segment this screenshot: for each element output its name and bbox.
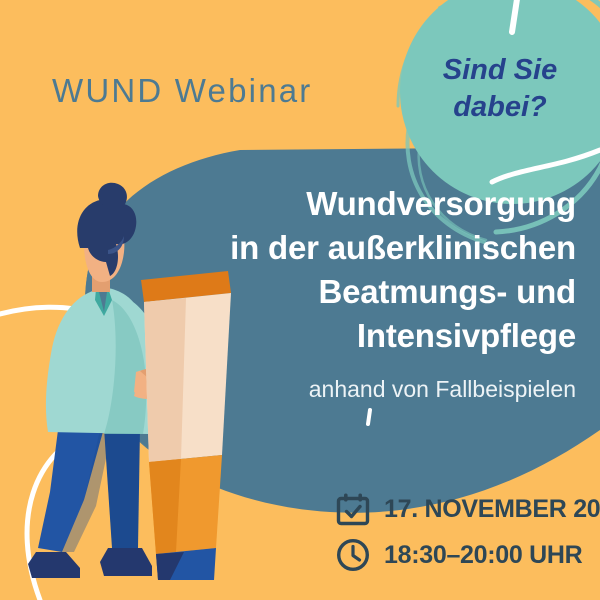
badge-line-2: dabei?	[402, 89, 598, 126]
event-time-row: 18:30–20:00 UHR	[336, 538, 582, 572]
tube-lower-shade	[149, 459, 181, 554]
status-badge: Sind Sie dabei?	[402, 52, 598, 126]
event-time-label: 18:30–20:00 UHR	[384, 541, 582, 570]
clock-icon	[336, 538, 370, 572]
headline: Wundversorgung in der außerklinischen Be…	[146, 182, 576, 358]
headline-line-4: Intensivpflege	[146, 314, 576, 358]
event-date-row: 17. NOVEMBER 2025	[336, 492, 600, 526]
headline-line-2: in der außerklinischen	[146, 226, 576, 270]
headline-line-3: Beatmungs- und	[146, 270, 576, 314]
figure-shoe-front	[28, 552, 80, 578]
figure-back-leg	[104, 428, 140, 548]
page-title: WUND Webinar	[52, 72, 313, 110]
event-date-label: 17. NOVEMBER 2025	[384, 495, 600, 524]
headline-line-1: Wundversorgung	[146, 182, 576, 226]
subheadline: anhand von Fallbeispielen	[146, 376, 576, 403]
badge-line-1: Sind Sie	[402, 52, 598, 89]
calendar-check-icon	[336, 492, 370, 526]
figure-hair	[77, 199, 136, 276]
webinar-poster: WUND Webinar Sind Sie dabei? Wundversorg…	[0, 0, 600, 600]
figure-shoe-back	[100, 548, 152, 576]
